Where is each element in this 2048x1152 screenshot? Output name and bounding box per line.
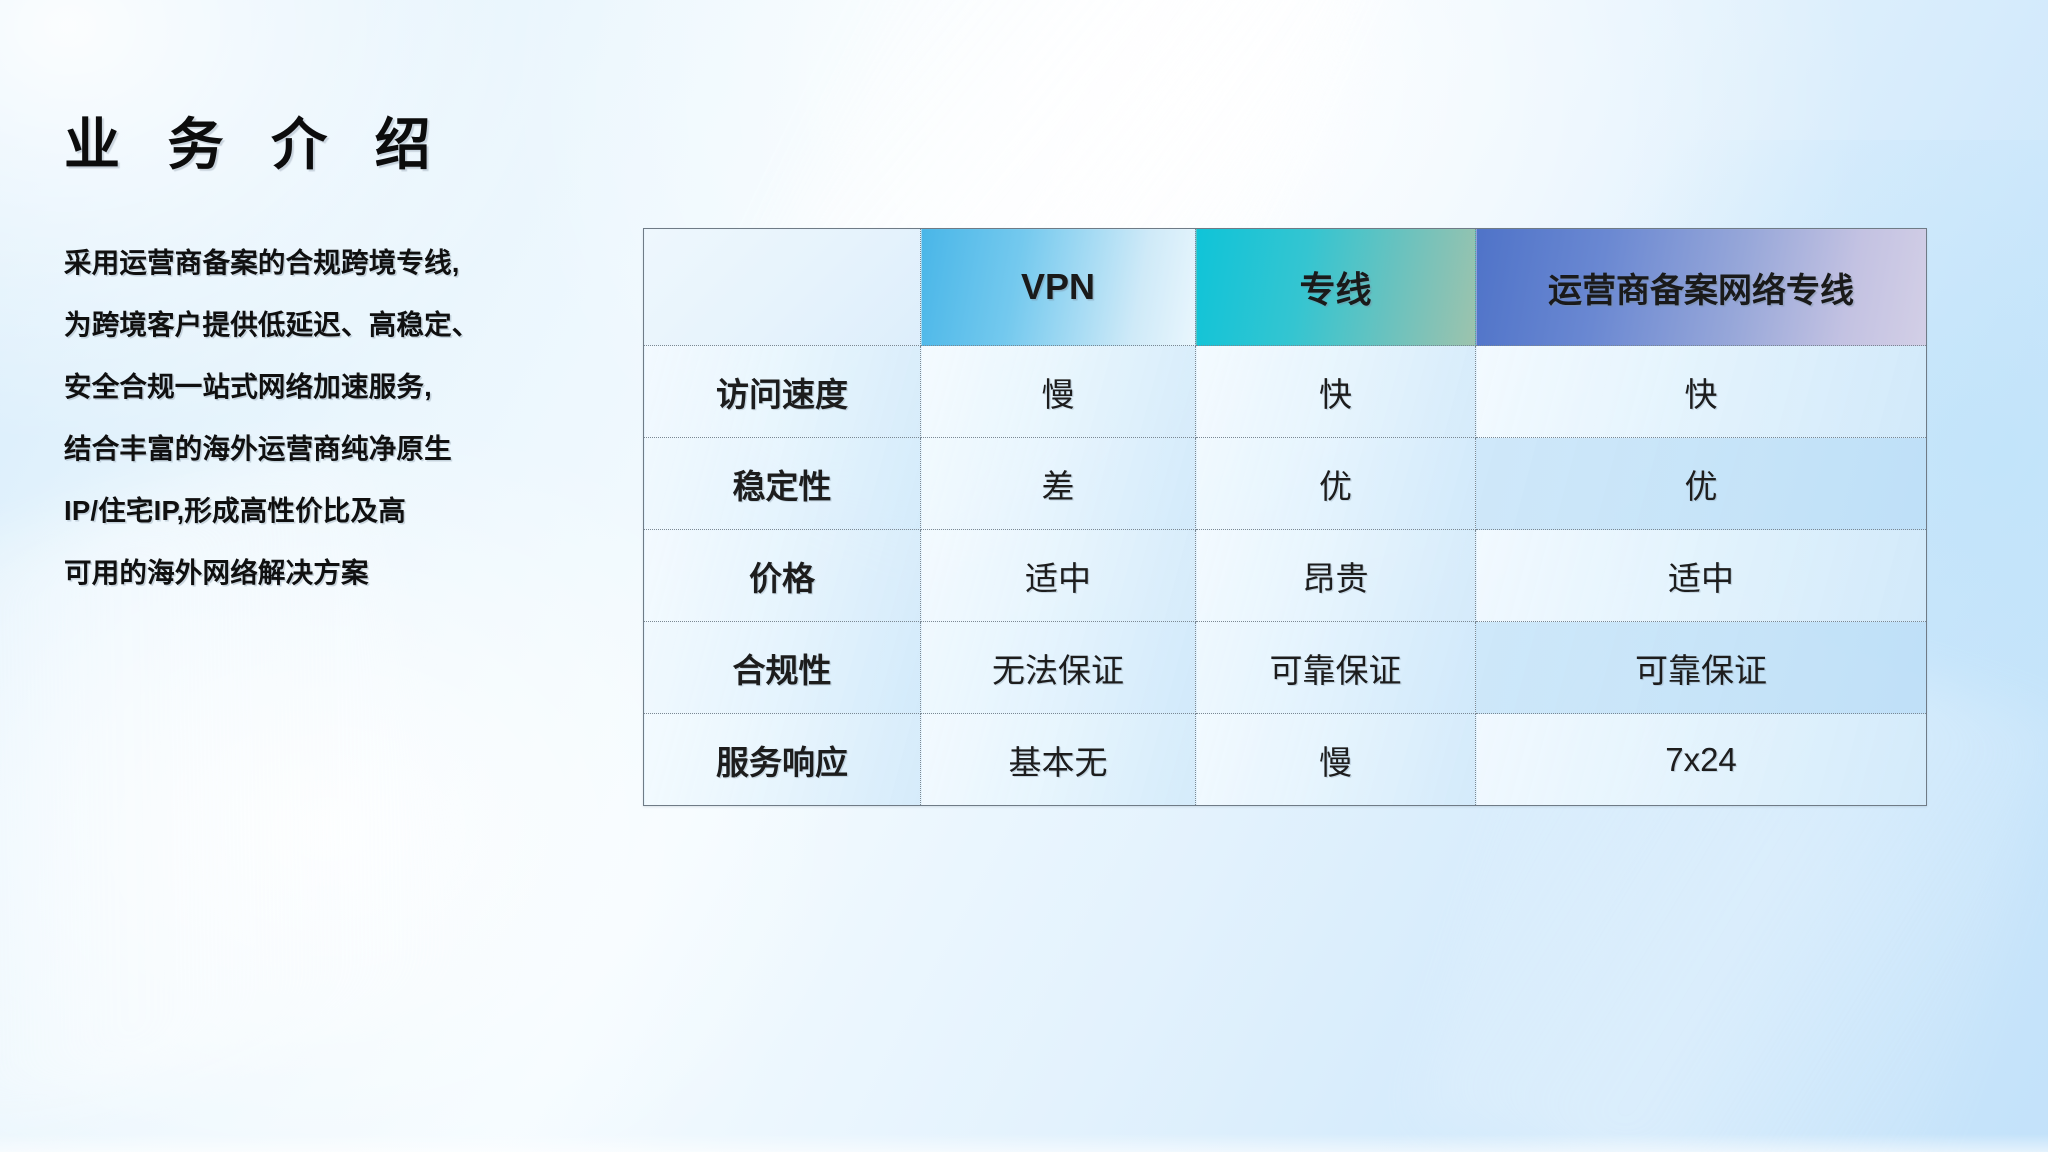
- cell-vpn: 无法保证: [921, 622, 1196, 714]
- intro-line: 结合丰富的海外运营商纯净原生: [64, 418, 624, 480]
- table-header-vpn: VPN: [921, 229, 1196, 346]
- table-header-blank: [644, 229, 921, 346]
- page-title: 业 务 介 绍: [64, 100, 447, 181]
- cell-vpn: 慢: [921, 346, 1196, 438]
- table-row: 价格 适中 昂贵 适中: [644, 530, 1927, 622]
- table-row: 服务响应 基本无 慢 7x24: [644, 714, 1927, 806]
- slide-canvas: 业 务 介 绍 采用运营商备案的合规跨境专线, 为跨境客户提供低延迟、高稳定、 …: [0, 0, 2048, 1152]
- row-label: 稳定性: [644, 438, 921, 530]
- table-row: 合规性 无法保证 可靠保证 可靠保证: [644, 622, 1927, 714]
- table-header-row: VPN 专线 运营商备案网络专线: [644, 229, 1927, 346]
- table-row: 访问速度 慢 快 快: [644, 346, 1927, 438]
- table-header-line: 专线: [1196, 229, 1476, 346]
- table-body: 访问速度 慢 快 快 稳定性 差 优 优 价格 适中 昂贵 适中 合规性 无法保…: [644, 346, 1927, 806]
- intro-line: 采用运营商备案的合规跨境专线,: [64, 232, 624, 294]
- cell-line: 昂贵: [1196, 530, 1476, 622]
- row-label: 合规性: [644, 622, 921, 714]
- cell-line: 慢: [1196, 714, 1476, 806]
- cell-vpn: 差: [921, 438, 1196, 530]
- cell-carrier: 7x24: [1476, 714, 1927, 806]
- cell-carrier: 优: [1476, 438, 1927, 530]
- table-header-carrier: 运营商备案网络专线: [1476, 229, 1927, 346]
- cell-carrier: 快: [1476, 346, 1927, 438]
- cell-vpn: 适中: [921, 530, 1196, 622]
- cell-line: 可靠保证: [1196, 622, 1476, 714]
- comparison-table: VPN 专线 运营商备案网络专线 访问速度 慢 快 快 稳定性 差 优 优 价格…: [643, 228, 1927, 806]
- intro-line: 安全合规一站式网络加速服务,: [64, 356, 624, 418]
- table-row: 稳定性 差 优 优: [644, 438, 1927, 530]
- cell-carrier: 适中: [1476, 530, 1927, 622]
- row-label: 访问速度: [644, 346, 921, 438]
- intro-line: IP/住宅IP,形成高性价比及高: [64, 480, 624, 542]
- table-header: VPN 专线 运营商备案网络专线: [644, 229, 1927, 346]
- intro-paragraph: 采用运营商备案的合规跨境专线, 为跨境客户提供低延迟、高稳定、 安全合规一站式网…: [64, 232, 624, 604]
- intro-line: 可用的海外网络解决方案: [64, 542, 624, 604]
- intro-line: 为跨境客户提供低延迟、高稳定、: [64, 294, 624, 356]
- row-label: 价格: [644, 530, 921, 622]
- cell-line: 优: [1196, 438, 1476, 530]
- cell-carrier: 可靠保证: [1476, 622, 1927, 714]
- cell-vpn: 基本无: [921, 714, 1196, 806]
- cell-line: 快: [1196, 346, 1476, 438]
- bottom-highlight-band: [0, 1134, 2048, 1152]
- row-label: 服务响应: [644, 714, 921, 806]
